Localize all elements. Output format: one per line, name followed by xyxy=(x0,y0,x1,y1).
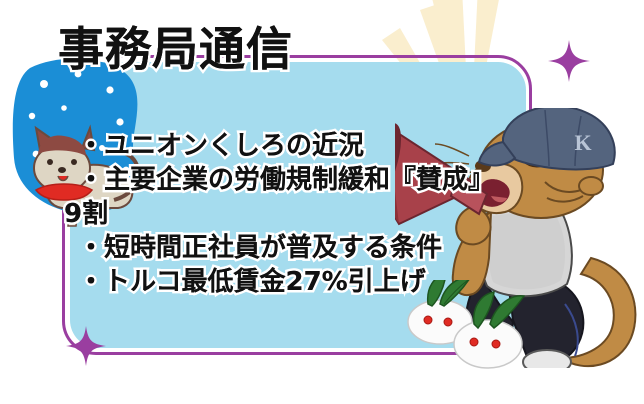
list-item: ・短時間正社員が普及する条件 ・短時間正社員が普及する条件 xyxy=(78,231,498,265)
poster-canvas: K 事務局通信 事務局通信 xyxy=(0,0,644,404)
sparkle-icon-bottom-left xyxy=(66,326,106,366)
sparkle-icon-top-right xyxy=(548,40,590,82)
cap-letter: K xyxy=(574,130,591,155)
list-item-continuation: 9割 9割 xyxy=(64,197,498,231)
list-item: ・主要企業の労働規制緩和『賛成』 ・主要企業の労働規制緩和『賛成』 xyxy=(78,163,498,197)
list-item: ・ユニオンくしろの近況 ・ユニオンくしろの近況 xyxy=(78,129,498,163)
page-title: 事務局通信 xyxy=(58,26,293,72)
bullet-list: ・ユニオンくしろの近況 ・ユニオンくしろの近況 ・主要企業の労働規制緩和『賛成』… xyxy=(78,129,498,299)
list-item: ・トルコ最低賃金27%引上げ ・トルコ最低賃金27%引上げ xyxy=(78,265,498,299)
